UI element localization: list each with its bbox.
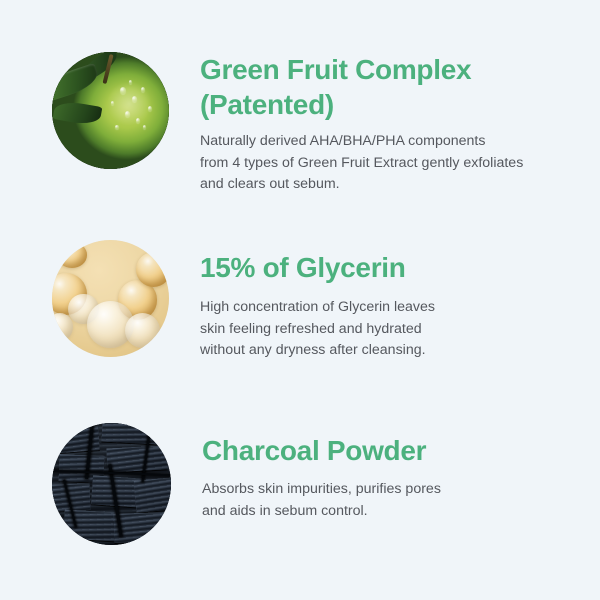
green-apple-photo (52, 52, 169, 169)
water-droplet (136, 118, 140, 123)
bubble (125, 313, 160, 348)
water-droplet (132, 96, 137, 102)
leaf-shape-lower-left (53, 100, 103, 128)
charcoal-chunk (106, 446, 167, 473)
feature-description: Absorbs skin impurities, purifies pores … (202, 479, 441, 522)
water-droplet (141, 87, 145, 92)
water-droplet (125, 111, 130, 117)
feature-block-charcoal-powder: Charcoal Powder Absorbs skin impurities,… (52, 423, 441, 545)
water-droplet (148, 106, 152, 111)
feature-block-glycerin: 15% of Glycerin High concentration of Gl… (52, 240, 435, 362)
feature-description: High concentration of Glycerin leaves sk… (200, 297, 435, 362)
water-droplet (129, 80, 132, 84)
feature-copy: Charcoal Powder Absorbs skin impurities,… (202, 423, 441, 522)
leaf-shape-left (52, 63, 101, 103)
charcoal-image-art (52, 423, 171, 545)
product-ingredients-infographic: Green Fruit Complex (Patented) Naturally… (0, 0, 600, 600)
charcoal-powder-photo (52, 423, 171, 545)
feature-block-green-fruit-complex: Green Fruit Complex (Patented) Naturally… (52, 52, 523, 196)
feature-description: Naturally derived AHA/BHA/PHA components… (200, 131, 523, 196)
bubble (57, 242, 87, 268)
charcoal-chunk (101, 423, 159, 444)
water-droplet (120, 87, 126, 94)
water-droplet (143, 125, 146, 129)
charcoal-chunk (113, 512, 169, 543)
feature-heading: Charcoal Powder (202, 433, 441, 468)
water-droplet (115, 125, 119, 129)
feature-heading: Green Fruit Complex (Patented) (200, 52, 523, 122)
apple-image-art (52, 52, 169, 169)
glycerin-image-art (52, 240, 169, 357)
bubble (136, 252, 169, 287)
feature-heading: 15% of Glycerin (200, 250, 435, 285)
water-droplet (111, 101, 114, 105)
glycerin-bubbles-photo (52, 240, 169, 357)
feature-copy: Green Fruit Complex (Patented) Naturally… (200, 52, 523, 196)
charcoal-chunk (134, 477, 171, 512)
feature-copy: 15% of Glycerin High concentration of Gl… (200, 240, 435, 362)
